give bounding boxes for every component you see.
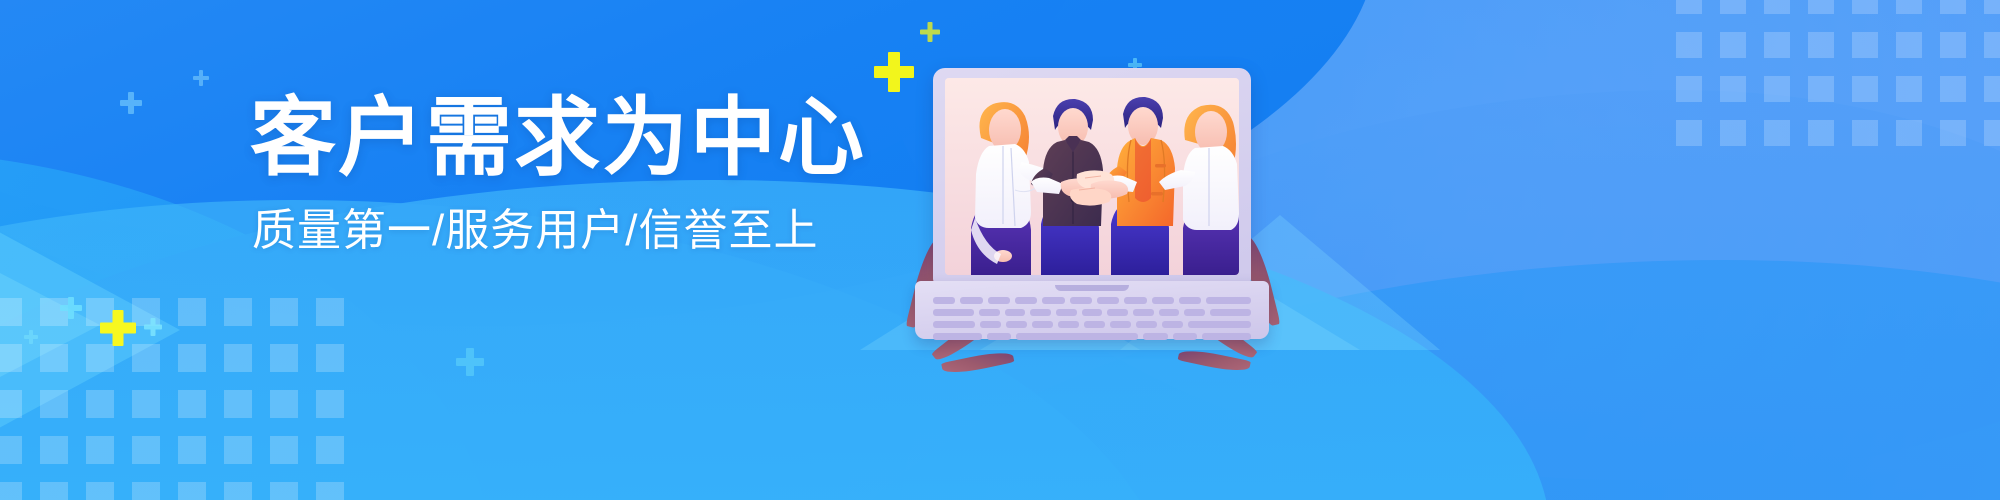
plus-icon-cyan-1 [60,297,82,319]
plus-icon-cyan-7 [24,330,38,344]
banner-copy-block: 客户需求为中心 质量第一/服务用户/信誉至上 [250,95,810,255]
laptop-screen [945,78,1239,275]
laptop-keyboard [933,297,1251,331]
plus-icon-cyan-5 [456,348,484,376]
banner-headline: 客户需求为中心 [250,95,810,183]
keyboard-row [933,321,1251,328]
plus-icon-yellow-large [874,52,914,92]
chevron-shape-1 [0,200,180,460]
laptop-base [915,281,1269,339]
illustration-alt-text: 四人团队手叠在一起的插画显示在笔记本电脑屏幕上 [915,68,916,69]
square-grid-bottom-left [0,298,344,500]
keyboard-row [933,297,1251,304]
square-grid-top-right [1676,0,2000,146]
plus-icon-yellow-small [920,22,940,42]
plus-icon-yellow-bottom-left [100,310,136,346]
plus-icon-cyan-3 [120,92,142,114]
keyboard-row [933,333,1251,340]
laptop-lid [933,68,1251,283]
plus-icon-cyan-2 [144,318,162,336]
plus-icon-cyan-4 [193,70,209,86]
keyboard-row [933,309,1251,316]
chevron-shape-2 [0,195,100,455]
teamwork-people-illustration [945,78,1239,275]
banner-subheadline: 质量第一/服务用户/信誉至上 [252,207,810,255]
promo-banner: 客户需求为中心 质量第一/服务用户/信誉至上 四人团队手叠在一起的插画显示在笔记… [0,0,2000,500]
laptop-illustration: 四人团队手叠在一起的插画显示在笔记本电脑屏幕上 [915,68,1285,338]
